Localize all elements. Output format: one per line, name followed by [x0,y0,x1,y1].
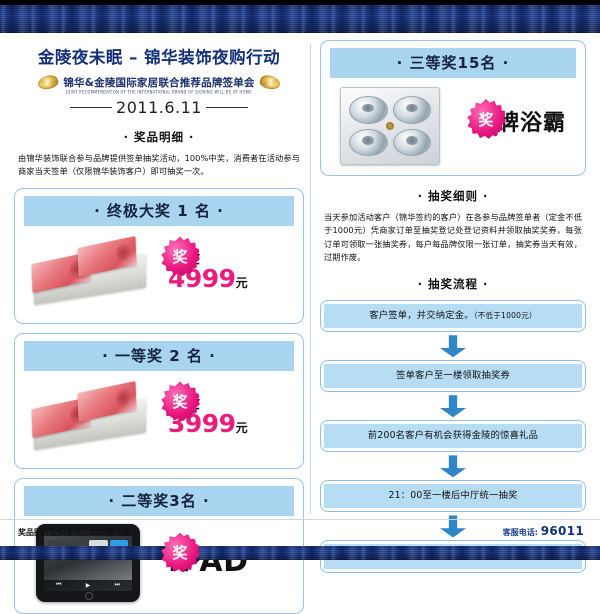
subtitle-block: 锦华&金陵国际家居联合推荐品牌签单会 JOINT RECOMMENDATION … [63,71,254,94]
hotline-label: 客服电话: [503,528,538,537]
flow-arrow-down-icon [440,455,466,477]
date-rule-right [206,107,248,108]
heater-lamp [349,129,388,157]
prize-card-third: · 三等奖15名 · [320,40,586,176]
page-title: 金陵夜未眠 – 锦华装饰夜购行动 [14,44,304,68]
play-icon: ▶ [86,582,91,589]
subtitle-english: JOINT RECOMMENDATION OF THE INTERNATIONA… [63,90,254,95]
prize-card-body: 奖 现金 3999元 [24,375,294,459]
prize-card-title: · 终极大奖 1 名 · [24,196,294,226]
heater-lamp [393,129,432,157]
date-rule-left [70,107,112,108]
flow-step-1: 客户签单，并交纳定金。（不低于1000元） [320,300,586,332]
bath-heater-icon [340,87,440,165]
flow-arrow-down-icon [440,335,466,357]
heater-lamp [349,96,388,124]
prize-card-body: 奖 现金 4999元 [24,230,294,314]
award-badge-icon: 奖 [466,99,506,139]
prize-card-grand: · 终极大奖 1 名 · 奖 现金 4999元 [14,188,304,324]
subtitle-row: 锦华&金陵国际家居联合推荐品牌签单会 JOINT RECOMMENDATION … [14,71,304,94]
prize-card-info: 奖 现金 4999元 [164,250,294,292]
flow-step-text: 前200名客户有机会获得金陵的惊喜礼品 [324,424,582,448]
flow-step-2: 签单客户至一楼领取抽奖券 [320,360,586,392]
prize-details-heading: · 奖品明细 · [14,129,304,145]
footer-disclaimer: 奖品图片仅供参考，以实物为准 [18,527,130,538]
event-date: 2011.6.11 [116,98,202,117]
flow-arrow-down-icon [440,395,466,417]
prize-card-title: · 三等奖15名 · [330,48,576,78]
prize-card-info: 奖 品牌浴霸 [470,113,576,135]
award-badge-glyph: 奖 [160,533,200,573]
right-column: · 三等奖15名 · [320,40,586,573]
award-badge-glyph: 奖 [160,236,200,276]
flow-step-3: 前200名客户有机会获得金陵的惊喜礼品 [320,420,586,452]
prize-details-description: 由锦华装饰联合参与品牌提供签单抽奖活动，100%中奖，消费者在活动参与商家当天签… [14,152,304,179]
prize-card-info: 奖 现金 3999元 [164,395,294,437]
event-date-row: 2011.6.11 [14,98,304,117]
flow-step-text: 客户签单，并交纳定金。（不低于1000元） [324,304,582,328]
prize-card-first: · 一等奖 2 名 · 奖 现金 3999元 [14,333,304,469]
prize-card-body: 奖 品牌浴霸 [330,82,576,166]
subtitle-chinese: 锦华&金陵国际家居联合推荐品牌签单会 [63,77,254,89]
hotline-number: 96011 [541,524,584,538]
ipad-home-button-icon [85,592,93,600]
money-stack-image [24,232,164,312]
laurel-ornament-left-icon [37,75,59,90]
prize-amount-unit: 元 [236,276,248,290]
footer: 奖品图片仅供参考，以实物为准 客服电话: 96011 [0,519,600,546]
footer-hotline: 客服电话: 96011 [503,524,584,538]
next-track-icon: ⏭ [115,581,120,589]
rules-text: 当天参加活动客户（锦华签约的客户）在各参与品牌签单者（定金不低于1000元）凭商… [320,211,586,264]
laurel-ornament-right-icon [259,75,281,90]
prev-track-icon: ⏮ [56,581,61,589]
award-badge-icon: 奖 [160,533,200,573]
flow-step-text: 签单客户至一楼领取抽奖券 [324,364,582,388]
column-divider [310,44,311,514]
award-badge-glyph: 奖 [160,381,200,421]
award-badge-glyph: 奖 [466,99,506,139]
heater-center-knob [386,122,394,130]
prize-card-title: · 一等奖 2 名 · [24,341,294,371]
money-stack-image [24,377,164,457]
ipad-media-controls: ⏮ ▶ ⏭ [44,580,132,591]
heater-lamp [393,96,432,124]
top-decorative-banner [0,5,600,33]
prize-amount-unit: 元 [236,421,248,435]
flow-step-note: （不低于1000元） [474,311,537,320]
flow-step-text: 21：00至一楼后中厅统一抽奖 [324,484,582,508]
flow-step-4: 21：00至一楼后中厅统一抽奖 [320,480,586,512]
award-badge-icon: 奖 [160,381,200,421]
bath-heater-image [330,84,470,164]
award-badge-icon: 奖 [160,236,200,276]
rules-heading: · 抽奖细则 · [320,188,586,204]
flow-step-main: 客户签单，并交纳定金。 [369,310,473,321]
bottom-decorative-banner [0,546,600,560]
poster-root: 金陵夜未眠 – 锦华装饰夜购行动 锦华&金陵国际家居联合推荐品牌签单会 JOIN… [0,0,600,560]
flow-heading: · 抽奖流程 · [320,276,586,292]
prize-card-title: · 二等奖3名 · [24,486,294,516]
